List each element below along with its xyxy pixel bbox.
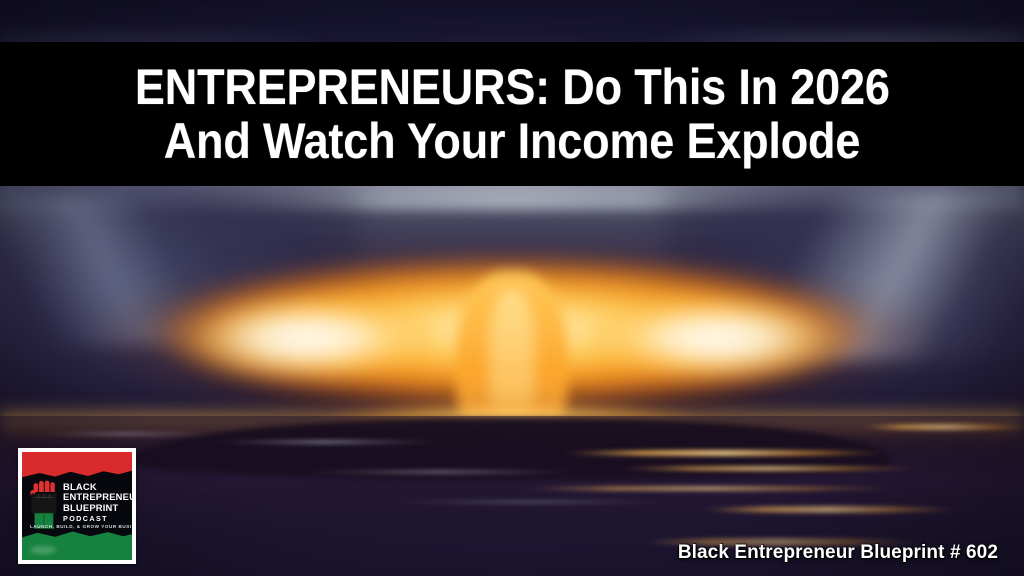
blast-lobe-right <box>568 286 868 390</box>
logo-tagline: LAUNCH, BUILD, & GROW YOUR BUSINESS <box>30 524 130 529</box>
water-reflection-streak <box>620 466 920 471</box>
water-reflection-streak <box>210 440 440 444</box>
water-reflection-streak <box>700 506 960 513</box>
water-reflection-streak <box>520 486 900 491</box>
title-line-1: ENTREPRENEURS: Do This In 2026 <box>135 60 890 114</box>
pan-african-flag-red-band <box>22 452 132 482</box>
water-reflection-streak <box>30 432 220 436</box>
title-overlay-bar: ENTREPRENEURS: Do This In 2026 And Watch… <box>0 42 1024 186</box>
podcast-logo-artwork: BLACK ENTREPRENEUR BLUEPRINT PODCAST LAU… <box>22 452 132 560</box>
title-line-2: And Watch Your Income Explode <box>164 114 861 168</box>
video-thumbnail: ENTREPRENEURS: Do This In 2026 And Watch… <box>0 0 1024 576</box>
water-reflection-streak <box>300 470 580 474</box>
water-reflection-streak <box>860 424 1024 430</box>
water-reflection-streak <box>560 450 890 456</box>
podcast-logo-wordmark: BLACK ENTREPRENEUR BLUEPRINT PODCAST <box>63 482 132 523</box>
water-reflection-streak <box>380 500 680 504</box>
podcast-logo-badge[interactable]: BLACK ENTREPRENEUR BLUEPRINT PODCAST LAU… <box>18 448 136 564</box>
logo-text-line-3: BLUEPRINT <box>63 503 132 513</box>
episode-caption: Black Entrepreneur Blueprint # 602 <box>678 542 998 564</box>
blast-lobe-left <box>156 286 456 390</box>
logo-subtitle: PODCAST <box>63 514 132 523</box>
pan-african-flag-green-band <box>22 526 132 560</box>
raised-fist-icon <box>29 480 59 530</box>
